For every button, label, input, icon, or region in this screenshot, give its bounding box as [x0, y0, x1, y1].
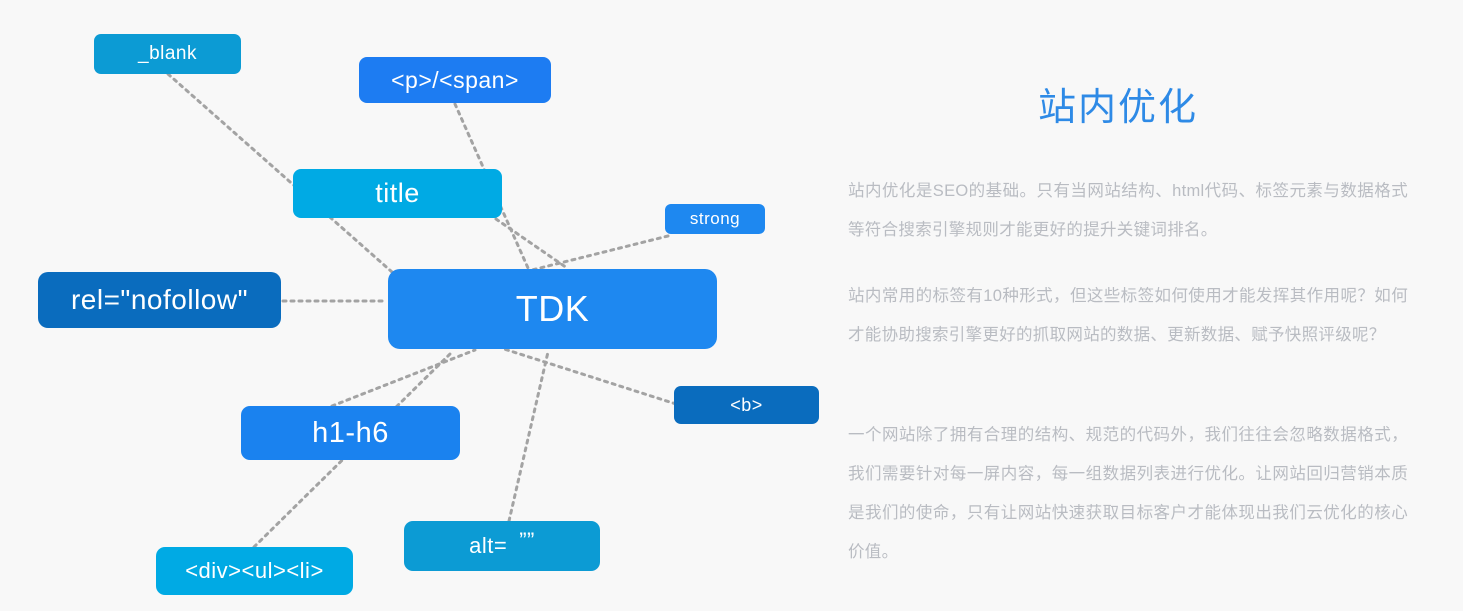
mindmap-node-tdk-center[interactable]: TDK: [388, 269, 717, 349]
node-label: alt=: [469, 533, 507, 559]
node-label: rel="nofollow": [71, 284, 248, 316]
mindmap-node-div-ul-li[interactable]: <div><ul><li>: [156, 547, 353, 595]
node-label: <div><ul><li>: [185, 558, 324, 584]
node-label: strong: [690, 209, 740, 229]
node-label: <b>: [730, 395, 763, 416]
edge-b-tdk: [501, 348, 676, 404]
mindmap-node-alt[interactable]: alt= ””: [404, 521, 600, 571]
edge-title-tdk: [496, 219, 567, 268]
mindmap-node-blank[interactable]: _blank: [94, 34, 241, 74]
mindmap-node-p-span[interactable]: <p>/<span>: [359, 57, 551, 103]
mindmap-node-title[interactable]: title: [293, 169, 502, 218]
mindmap-node-b[interactable]: <b>: [674, 386, 819, 424]
node-label: _blank: [138, 43, 197, 65]
mindmap-node-h1-h6[interactable]: h1-h6: [241, 406, 460, 460]
node-label: <p>/<span>: [391, 67, 519, 94]
article-title: 站内优化: [1038, 76, 1198, 131]
node-label: h1-h6: [312, 417, 389, 450]
node-label: TDK: [516, 288, 590, 330]
node-label-suffix: ””: [519, 528, 535, 554]
mindmap-diagram: _blank <p>/<span> title strong rel="nofo…: [0, 0, 840, 611]
article-panel: 站内优化 站内优化是SEO的基础。只有当网站结构、html代码、标签元素与数据格…: [848, 0, 1423, 611]
edge-h1h6-tdk: [332, 350, 475, 406]
article-paragraph: 站内优化是SEO的基础。只有当网站结构、html代码、标签元素与数据格式等符合搜…: [848, 172, 1408, 250]
mindmap-node-strong[interactable]: strong: [665, 204, 765, 234]
article-paragraph: 站内常用的标签有10种形式，但这些标签如何使用才能发挥其作用呢？如何才能协助搜索…: [848, 277, 1408, 355]
article-paragraph: 一个网站除了拥有合理的结构、规范的代码外，我们往往会忽略数据格式，我们需要针对每…: [848, 416, 1408, 572]
node-label: title: [375, 178, 420, 209]
mindmap-node-rel-nofollow[interactable]: rel="nofollow": [38, 272, 281, 328]
page-canvas: _blank <p>/<span> title strong rel="nofo…: [0, 0, 1463, 611]
edge-alt-tdk: [509, 352, 548, 521]
